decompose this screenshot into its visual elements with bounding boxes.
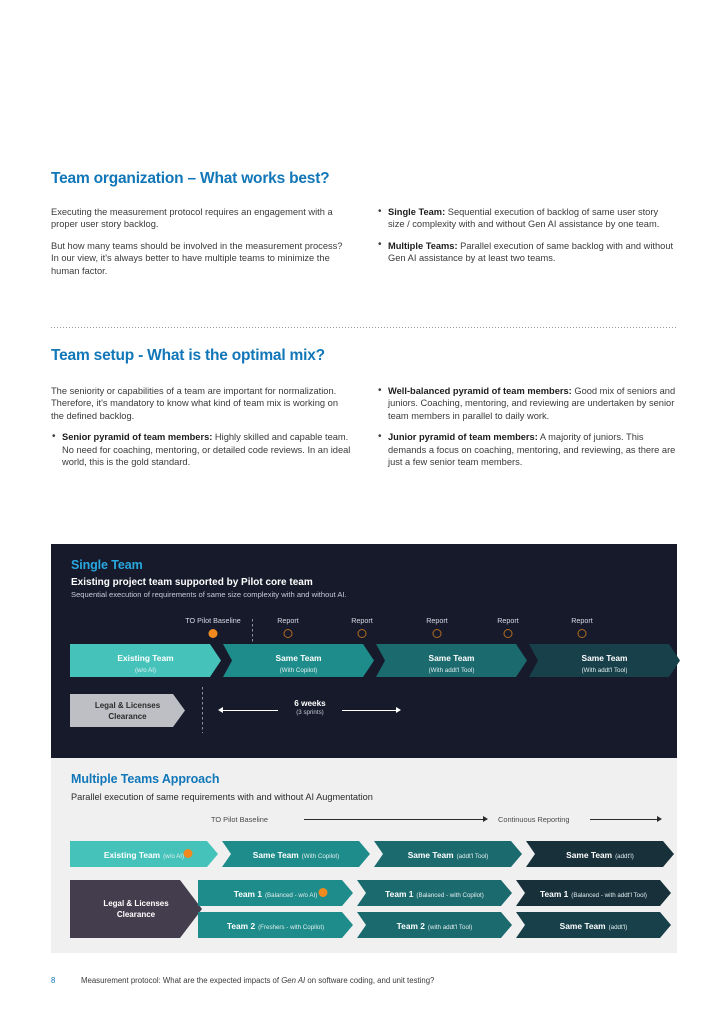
stage-label: Same Team	[566, 850, 612, 860]
milestone-marker-hollow	[284, 629, 293, 638]
stage-label: Team 1	[540, 889, 568, 899]
list-item: Well-balanced pyramid of team members: G…	[377, 385, 677, 422]
stage-sublabel: (With addt'l Tool)	[582, 667, 628, 674]
duration-sub: (3 sprints)	[294, 709, 325, 716]
list-item-lead: Single Team:	[388, 207, 445, 217]
milestone-marker-hollow	[578, 629, 587, 638]
duration-main: 6 weeks	[294, 699, 325, 708]
duration-line-right	[342, 710, 397, 711]
single-team-title: Single Team	[71, 558, 661, 572]
footer-text-italic: Gen AI	[281, 976, 305, 985]
legal-line-2: Clearance	[117, 910, 155, 919]
legal-licenses-clearance-box-multiple: Legal & Licenses Clearance	[70, 880, 202, 938]
axis-label-continuous-reporting: Continuous Reporting	[498, 815, 570, 824]
team-organization-left-column: Executing the measurement protocol requi…	[51, 206, 351, 286]
stage-label: Same Team	[560, 921, 606, 931]
single-team-subtitle: Existing project team supported by Pilot…	[71, 577, 661, 588]
paragraph: The seniority or capabilities of a team …	[51, 385, 351, 422]
list-item-lead: Junior pyramid of team members:	[388, 432, 538, 442]
team2-chevron: Same Team(addt'l)	[516, 912, 671, 938]
section-divider	[51, 327, 677, 328]
single-team-diagram-panel: Single Team Existing project team suppor…	[51, 544, 677, 758]
axis-arrow-2-head	[657, 816, 662, 822]
footer-text-before: Measurement protocol: What are the expec…	[81, 976, 281, 985]
milestone-marker-filled	[184, 849, 193, 858]
multiple-teams-diagram-panel: Multiple Teams Approach Parallel executi…	[51, 758, 677, 953]
stage-label: Same Team	[582, 653, 628, 663]
stage-chevron: Same Team(With addt'l Tool)	[376, 644, 527, 677]
stage-label: Team 1	[234, 889, 262, 899]
stage-chevron: Same Team(With addt'l Tool)	[529, 644, 680, 677]
list-item: Single Team: Sequential execution of bac…	[377, 206, 677, 231]
list-item-lead: Well-balanced pyramid of team members:	[388, 386, 572, 396]
single-team-caption: Sequential execution of requirements of …	[71, 590, 661, 599]
axis-arrow-1-head	[483, 816, 488, 822]
axis-line-1	[304, 819, 484, 820]
team1-chevron: Team 1(Balanced - with Copilot)	[357, 880, 512, 906]
duration-arrow-right-head	[396, 707, 401, 713]
multiple-teams-title: Multiple Teams Approach	[71, 772, 661, 786]
milestone-marker-hollow	[433, 629, 442, 638]
stage-sublabel: (addt'l)	[609, 924, 628, 931]
timeline-label: Report	[497, 616, 519, 625]
section-title-team-setup: Team setup - What is the optimal mix?	[51, 347, 325, 365]
multiple-teams-subtitle: Parallel execution of same requirements …	[71, 792, 661, 802]
stage-sublabel: (Balanced - w/o AI)	[265, 892, 317, 899]
duration-arrow-left-head	[218, 707, 223, 713]
team1-chevron: Team 1(Balanced - w/o AI)	[198, 880, 353, 906]
page-footer: 8Measurement protocol: What are the expe…	[51, 976, 677, 985]
timeline-label: Report	[571, 616, 593, 625]
timeline-label: Report	[277, 616, 299, 625]
stage-label: Team 2	[397, 921, 425, 931]
legal-licenses-clearance-box-single: Legal & Licenses Clearance	[70, 694, 185, 727]
list-item-lead: Senior pyramid of team members:	[62, 432, 212, 442]
legal-line-1: Legal & Licenses	[95, 701, 160, 710]
stage-sublabel: (addt'l)	[615, 853, 634, 860]
stage-sublabel: (Freshers - with Copilot)	[258, 924, 324, 931]
stage-label: Same Team	[253, 850, 299, 860]
single-team-header: Single Team Existing project team suppor…	[71, 558, 661, 599]
team2-chevron: Team 2(Freshers - with Copilot)	[198, 912, 353, 938]
baseline-dash-lower	[202, 687, 203, 733]
stage-sublabel: (With addt'l Tool)	[429, 667, 475, 674]
milestone-marker-filled	[209, 629, 218, 638]
stage-chevron: Same Team(addt'l Tool)	[374, 841, 522, 867]
multiple-teams-header: Multiple Teams Approach Parallel executi…	[71, 772, 661, 802]
document-page: Team organization – What works best? Exe…	[0, 0, 724, 1024]
milestone-marker-hollow	[358, 629, 367, 638]
stage-label: Same Team	[429, 653, 475, 663]
milestone-marker-hollow	[504, 629, 513, 638]
list-item-lead: Multiple Teams:	[388, 241, 458, 251]
stage-chevron: Existing Team(w/o AI)	[70, 644, 221, 677]
stage-label: Team 1	[385, 889, 413, 899]
axis-line-2	[590, 819, 658, 820]
paragraph: Executing the measurement protocol requi…	[51, 206, 351, 231]
list-item: Junior pyramid of team members: A majori…	[377, 431, 677, 468]
stage-sublabel: (Balanced - with addt'l Tool)	[571, 892, 647, 899]
team2-chevron: Team 2(with addt'l Tool)	[357, 912, 512, 938]
stage-chevron: Same Team(addt'l)	[526, 841, 674, 867]
stage-label: Same Team	[276, 653, 322, 663]
legal-line-1: Legal & Licenses	[103, 899, 168, 908]
stage-label: Same Team	[408, 850, 454, 860]
timeline-label: TO Pilot Baseline	[185, 616, 240, 625]
stage-label: Existing Team	[104, 850, 160, 860]
stage-sublabel: (Balanced - with Copilot)	[416, 892, 483, 899]
team-organization-right-column: Single Team: Sequential execution of bac…	[377, 206, 677, 274]
duration-label: 6 weeks (3 sprints)	[294, 699, 325, 716]
list-item: Multiple Teams: Parallel execution of sa…	[377, 240, 677, 265]
stage-chevron: Existing Team(w/o AI)	[70, 841, 218, 867]
stage-sublabel: (With Copilot)	[276, 667, 322, 674]
baseline-dash-upper	[252, 619, 253, 643]
paragraph: But how many teams should be involved in…	[51, 240, 351, 277]
stage-sublabel: (w/o AI)	[163, 853, 184, 860]
timeline-label: Report	[351, 616, 373, 625]
milestone-marker-filled	[319, 888, 328, 897]
section-title-team-organization: Team organization – What works best?	[51, 170, 329, 188]
stage-sublabel: (w/o AI)	[117, 667, 173, 674]
stage-label: Team 2	[227, 921, 255, 931]
stage-sublabel: (addt'l Tool)	[457, 853, 489, 860]
duration-line-left	[223, 710, 278, 711]
page-number: 8	[51, 976, 81, 985]
axis-label-pilot-baseline: TO Pilot Baseline	[211, 815, 268, 824]
stage-sublabel: (With Copilot)	[302, 853, 339, 860]
footer-text-after: on software coding, and unit testing?	[305, 976, 434, 985]
stage-sublabel: (with addt'l Tool)	[428, 924, 472, 931]
team1-chevron: Team 1(Balanced - with addt'l Tool)	[516, 880, 671, 906]
stage-chevron: Same Team(With Copilot)	[223, 644, 374, 677]
list-item: Senior pyramid of team members: Highly s…	[51, 431, 351, 468]
timeline-label: Report	[426, 616, 448, 625]
stage-label: Existing Team	[117, 653, 173, 663]
team-setup-right-column: Well-balanced pyramid of team members: G…	[377, 385, 677, 477]
legal-line-2: Clearance	[108, 712, 146, 721]
stage-chevron: Same Team(With Copilot)	[222, 841, 370, 867]
team-setup-left-column: The seniority or capabilities of a team …	[51, 385, 351, 477]
